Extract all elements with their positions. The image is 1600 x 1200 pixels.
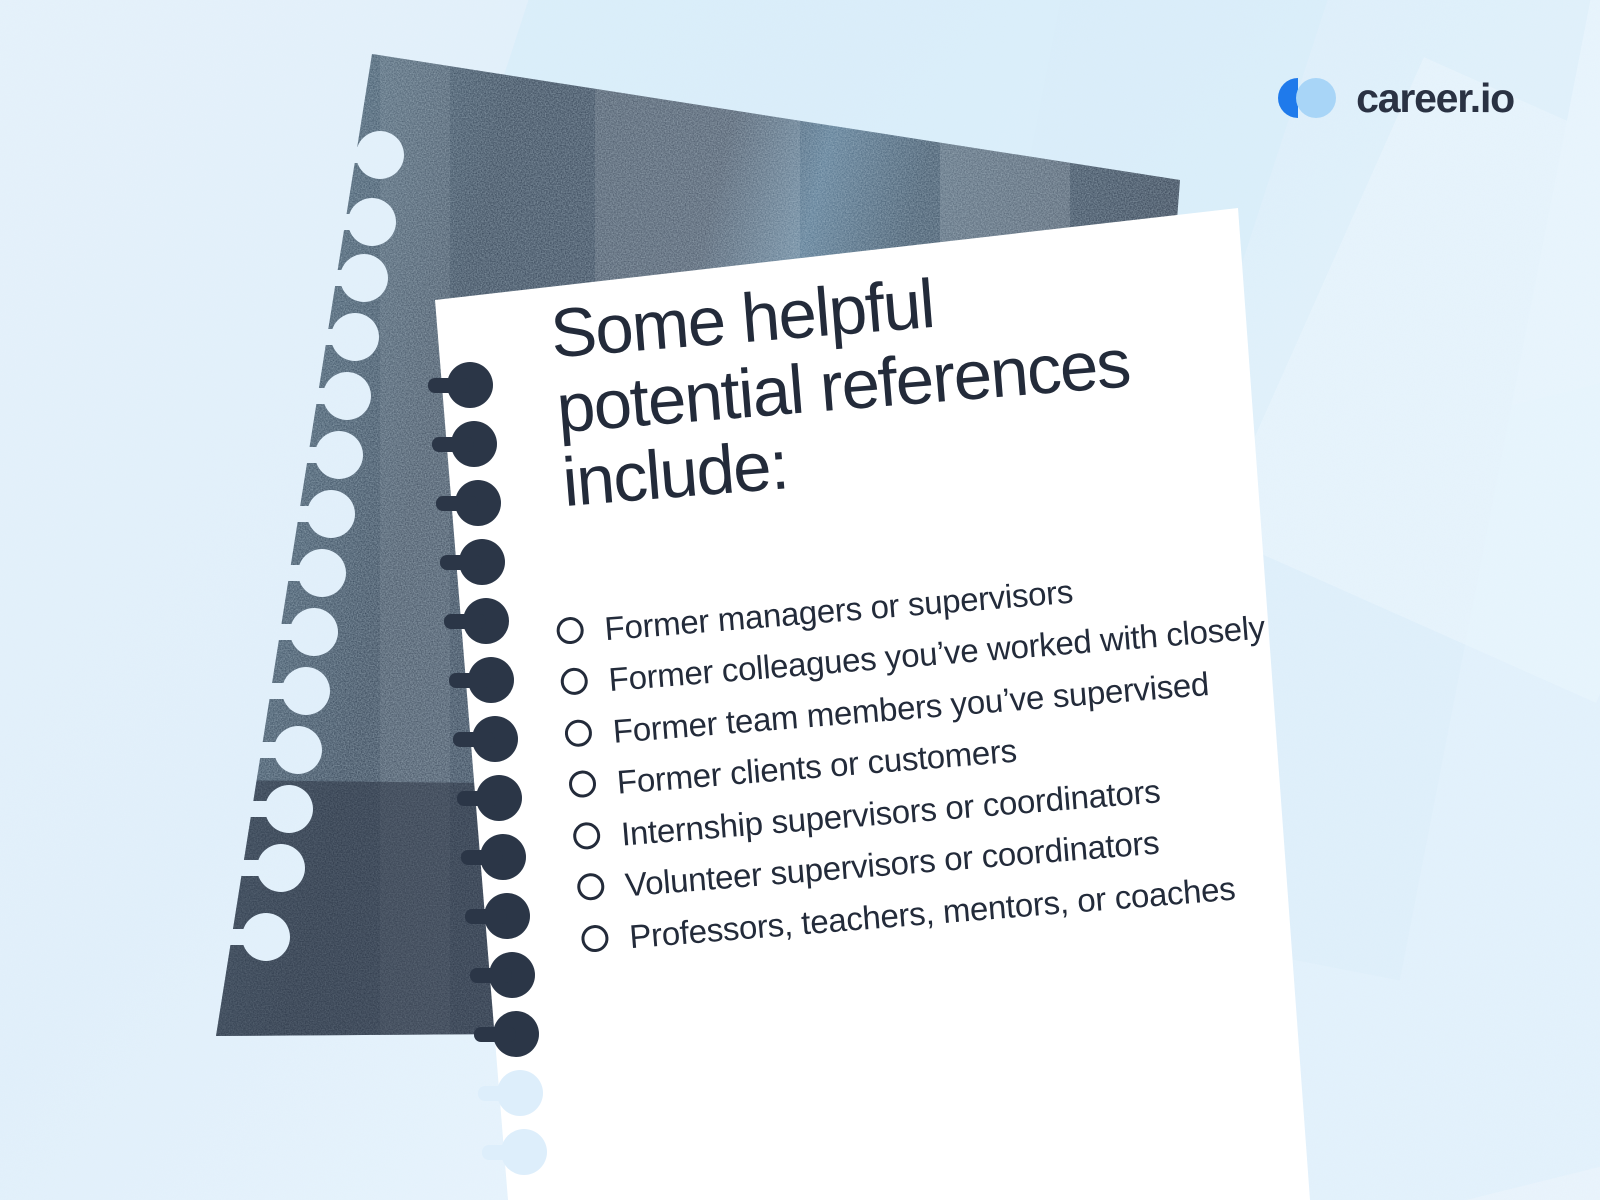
checkbox-circle-icon[interactable] xyxy=(576,872,605,901)
checkbox-circle-icon[interactable] xyxy=(580,924,609,953)
checkbox-circle-icon[interactable] xyxy=(564,718,593,747)
brand-logo: career.io xyxy=(1266,74,1514,122)
checkbox-circle-icon[interactable] xyxy=(572,821,601,850)
brand-name: career.io xyxy=(1356,75,1514,122)
logo-half-circle-dark xyxy=(1278,78,1298,118)
checkbox-circle-icon[interactable] xyxy=(568,770,597,799)
logo-circle-light xyxy=(1296,78,1336,118)
paper-content: Some helpful potential references includ… xyxy=(520,239,1331,970)
reference-checklist: Former managers or supervisorsFormer col… xyxy=(553,550,1331,964)
career-io-logo-icon xyxy=(1266,74,1338,122)
checkbox-circle-icon[interactable] xyxy=(560,667,589,696)
infographic-canvas: Some helpful potential references includ… xyxy=(0,0,1600,1200)
checkbox-circle-icon[interactable] xyxy=(556,616,585,645)
